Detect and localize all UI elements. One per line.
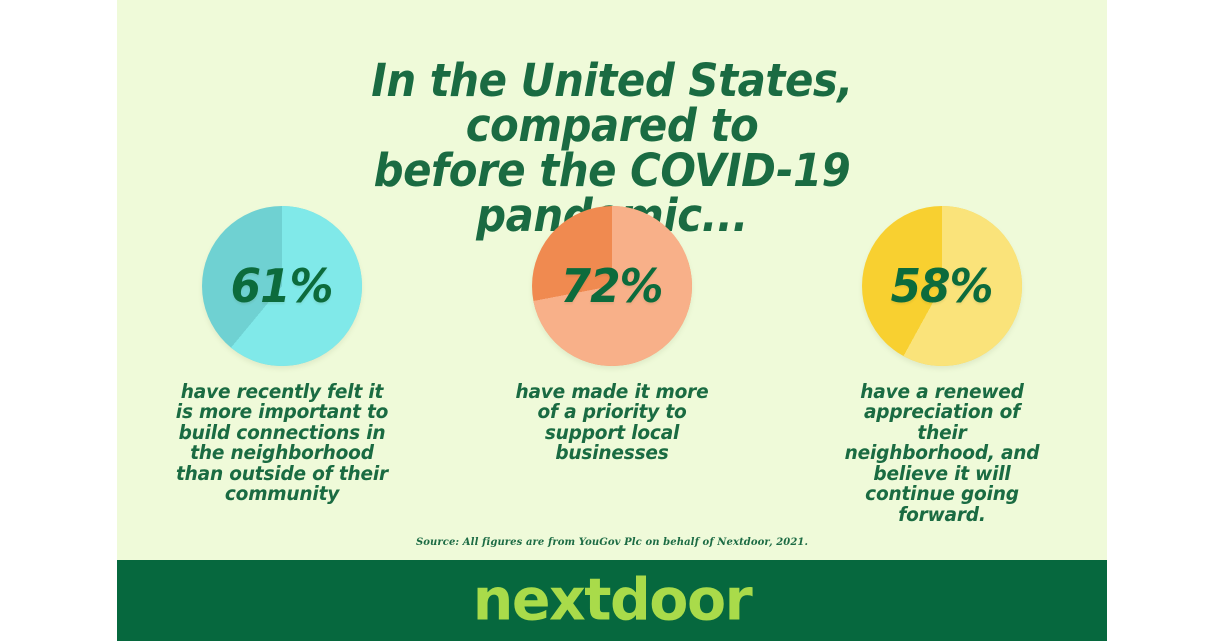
- stat-block-1: 61% have recently felt it is more import…: [117, 206, 447, 505]
- infographic-poster: In the United States, compared to before…: [0, 0, 1224, 641]
- statistics-row: 61% have recently felt it is more import…: [117, 206, 1107, 525]
- stat-block-3: 58% have a renewed appreciation of their…: [777, 206, 1107, 525]
- pie-value-1: 61%: [231, 263, 333, 309]
- source-note: Source: All figures are from YouGov Plc …: [117, 537, 1107, 548]
- nextdoor-logo: nextdoor: [473, 571, 751, 629]
- footer-band: nextdoor: [117, 560, 1107, 641]
- pie-caption-2: have made it more of a priority to suppo…: [512, 382, 712, 464]
- pie-caption-3: have a renewed appreciation of their nei…: [840, 382, 1043, 525]
- pie-value-2: 72%: [561, 263, 663, 309]
- pie-caption-1: have recently felt it is more important …: [172, 382, 392, 505]
- pie-chart-1: 61%: [202, 206, 362, 366]
- pie-value-3: 58%: [891, 263, 993, 309]
- infographic-canvas: In the United States, compared to before…: [117, 0, 1107, 641]
- pie-chart-2-wrapper: 72%: [532, 206, 692, 366]
- pie-chart-2: 72%: [532, 206, 692, 366]
- pie-chart-3: 58%: [862, 206, 1022, 366]
- pie-chart-1-wrapper: 61%: [202, 206, 362, 366]
- headline-line-1: In the United States, compared to: [371, 54, 853, 152]
- pie-chart-3-wrapper: 58%: [862, 206, 1022, 366]
- stat-block-2: 72% have made it more of a priority to s…: [447, 206, 777, 464]
